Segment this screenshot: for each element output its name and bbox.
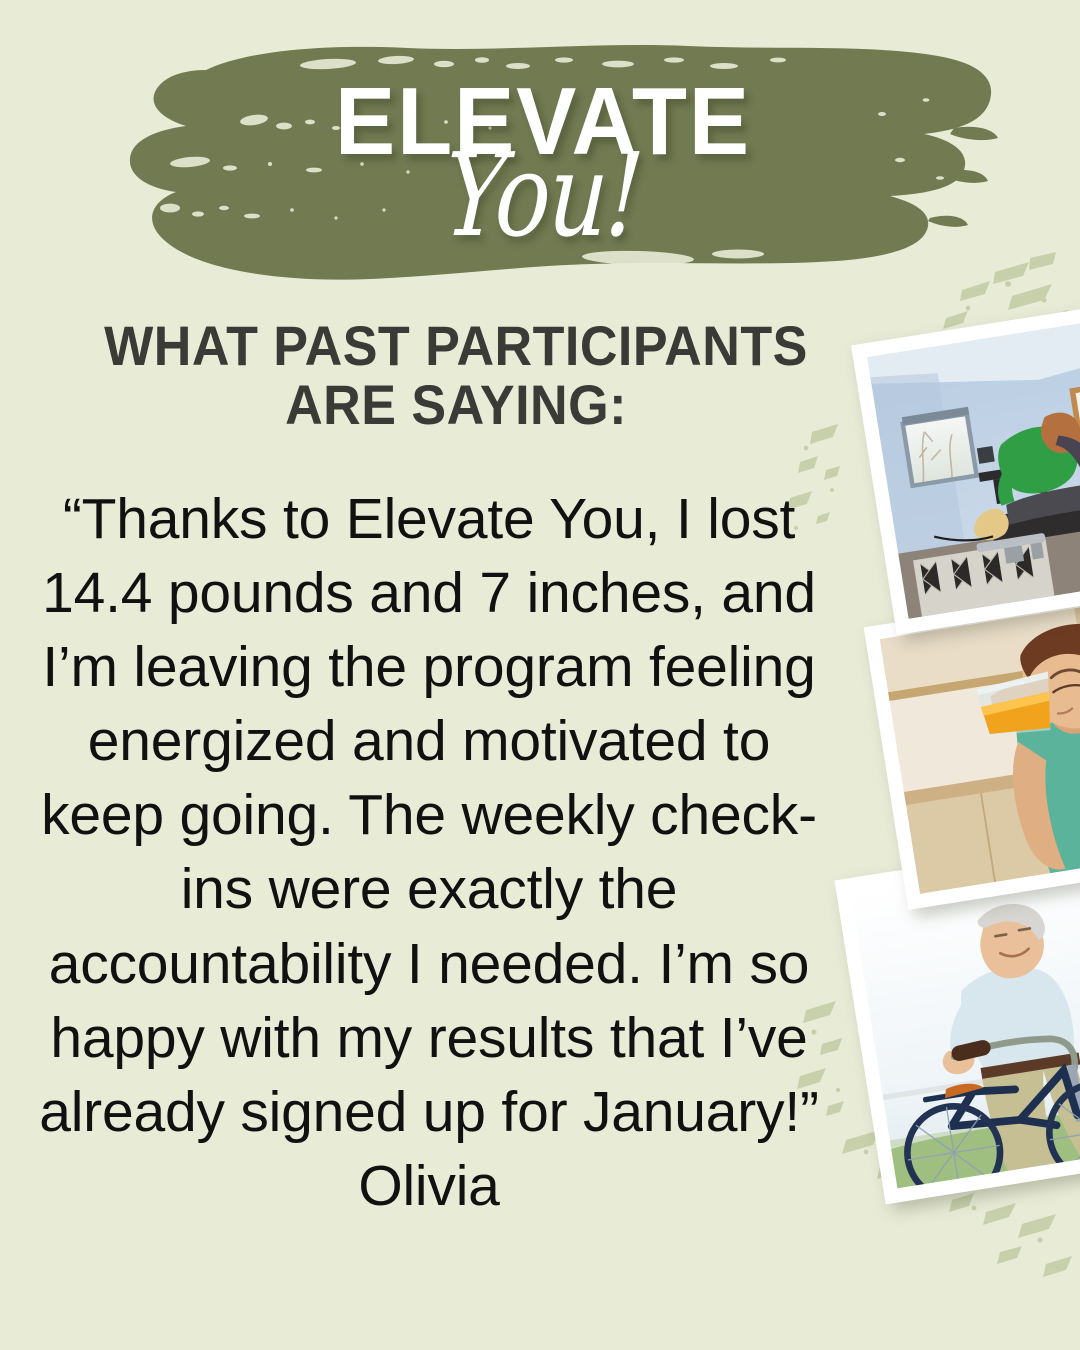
brush-stroke-banner <box>78 22 1008 297</box>
page-title-line-2: ARE SAYING: <box>84 375 828 434</box>
poster-canvas: ELEVATE You! WHAT PAST PARTICIPANTS ARE … <box>0 0 1080 1350</box>
photo-card-clinic <box>851 294 1080 635</box>
testimonial-quote: “Thanks to Elevate You, I lost 14.4 poun… <box>34 482 824 1223</box>
photo-image-clinic <box>867 310 1080 619</box>
page-title: WHAT PAST PARTICIPANTS ARE SAYING: <box>84 316 828 435</box>
page-title-line-1: WHAT PAST PARTICIPANTS <box>84 316 828 375</box>
photo-image-juice <box>880 592 1080 894</box>
